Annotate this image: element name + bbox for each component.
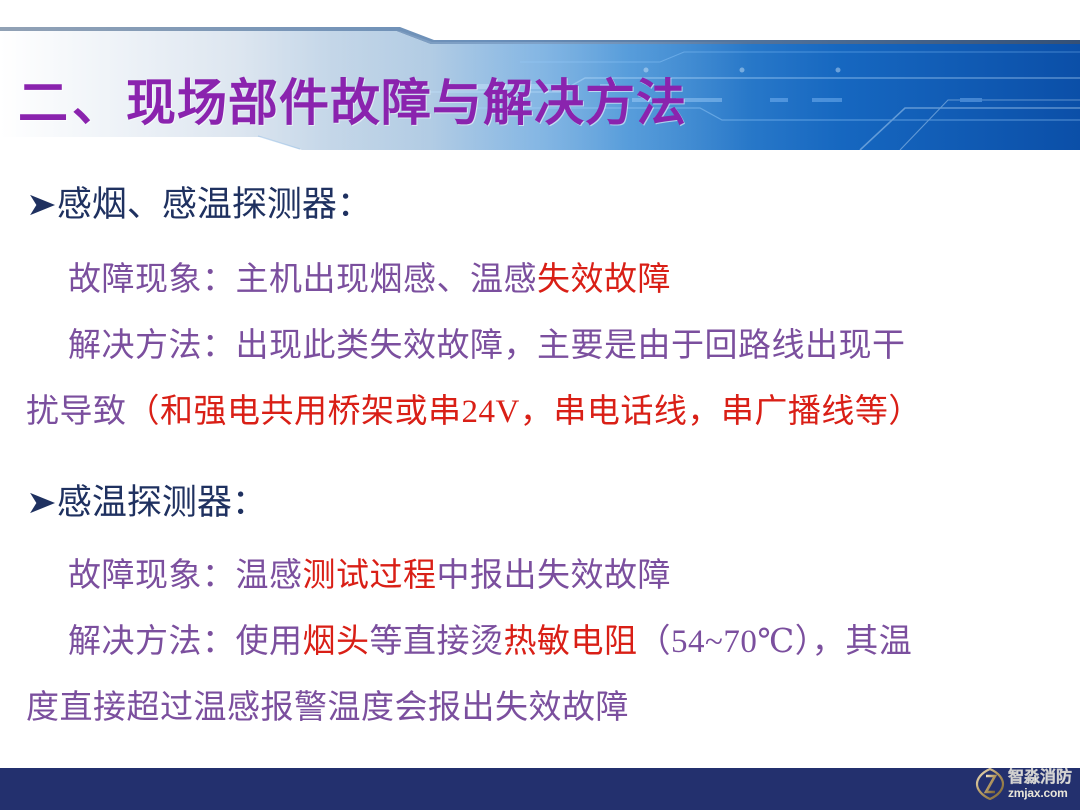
section-heading-2: ➤感温探测器： (28, 484, 267, 523)
section-1-line-3: 扰导致（和强电共用桥架或串24V，串电话线，串广播线等） (26, 394, 922, 430)
watermark-brand-url: zmjax.com (1008, 787, 1068, 799)
footer-bar (0, 742, 1080, 810)
section-heading-1: ➤感烟、感温探测器： (28, 186, 372, 225)
arrowhead-bullet-icon: ➤ (26, 187, 57, 222)
page-title: 二、现场部件故障与解决方法 (18, 72, 687, 134)
section-heading-1-label: 感烟、感温探测器： (57, 185, 372, 224)
section-2-line-1: 故障现象：温感测试过程中报出失效故障 (68, 558, 671, 594)
page-title-text: 现场部件故障与解决方法 (126, 75, 687, 131)
section-2-line-1-run-2: 中报出失效故障 (437, 558, 672, 594)
zhimiao-logo-icon (975, 768, 1005, 800)
section-2-line-2: 解决方法：使用烟头等直接烫热敏电阻（54~70℃），其温 (68, 624, 912, 660)
footer-bar-shape (0, 742, 1080, 810)
section-2-line-1-run-1: 测试过程 (303, 558, 437, 594)
page-title-number: 二、 (18, 75, 126, 131)
section-2-line-2-run-1: 烟头 (303, 624, 370, 660)
arrowhead-bullet-icon: ➤ (26, 485, 57, 520)
section-2-line-3-run-0: 度直接超过温感报警温度会报出失效故障 (26, 690, 629, 726)
section-1-line-2-run-0: 解决方法：出现此类失效故障，主要是由于回路线出现干 (68, 328, 906, 364)
watermark: 智淼消防 zmjax.com (975, 762, 1072, 806)
section-2-line-1-run-0: 故障现象：温感 (68, 558, 303, 594)
section-2-line-3: 度直接超过温感报警温度会报出失效故障 (26, 690, 629, 726)
section-1-line-1: 故障现象：主机出现烟感、温感失效故障 (68, 262, 671, 298)
section-2-line-2-run-3: 热敏电阻 (504, 624, 638, 660)
watermark-brand-cn: 智淼消防 (1008, 770, 1072, 786)
slide-canvas: 二、现场部件故障与解决方法 ➤感烟、感温探测器： 故障现象：主机出现烟感、温感失… (0, 0, 1080, 810)
section-1-line-3-run-1: （和强电共用桥架或串24V，串电话线，串广播线等） (127, 394, 922, 430)
section-2-line-2-run-0: 解决方法：使用 (68, 624, 303, 660)
section-heading-2-label: 感温探测器： (57, 483, 267, 522)
section-1-line-1-run-0: 故障现象：主机出现烟感、温感 (68, 262, 537, 298)
watermark-text: 智淼消防 zmjax.com (1008, 770, 1072, 799)
section-1-line-1-run-1: 失效故障 (537, 262, 671, 298)
section-1-line-3-run-0: 扰导致 (26, 394, 127, 430)
section-1-line-2: 解决方法：出现此类失效故障，主要是由于回路线出现干 (68, 328, 906, 364)
slide-content: ➤感烟、感温探测器： 故障现象：主机出现烟感、温感失效故障 解决方法：出现此类失… (0, 162, 1080, 742)
section-2-line-2-run-2: 等直接烫 (370, 624, 504, 660)
section-2-line-2-run-4: （54~70℃），其温 (638, 624, 913, 660)
